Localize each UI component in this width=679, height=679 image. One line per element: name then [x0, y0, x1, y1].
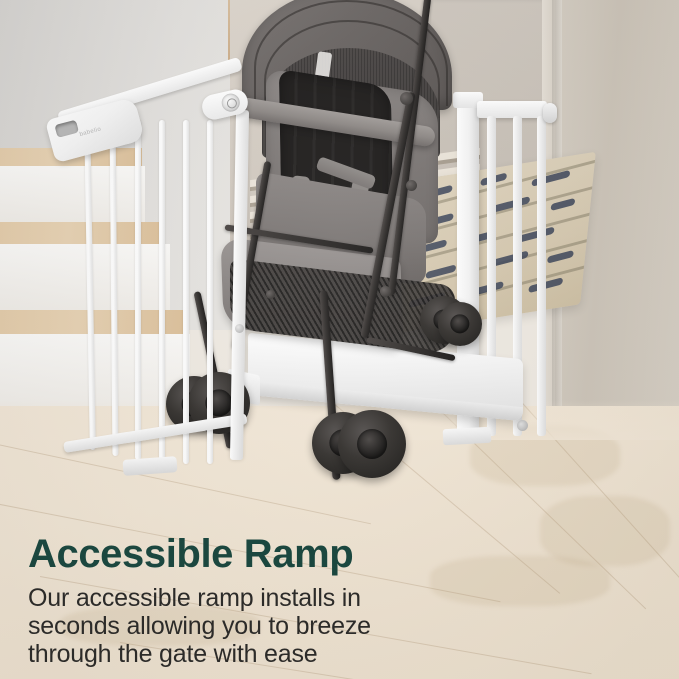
gate-extension-bar [537, 116, 546, 436]
body-copy: Our accessible ramp installs in seconds … [28, 584, 458, 668]
frame-joint [400, 92, 413, 105]
latch-dial-icon [220, 92, 242, 114]
gate-brand-label: babelio [79, 126, 102, 138]
gate-extension-screw [517, 420, 528, 431]
body-line: through the gate with ease [28, 640, 458, 668]
gate-bar [135, 120, 141, 460]
body-line: seconds allowing you to breeze [28, 612, 458, 640]
gate-bar [159, 120, 165, 462]
frame-joint [266, 290, 275, 299]
stroller-wheel [438, 302, 482, 346]
product-lifestyle-image: babelio Accessible Ramp Our accessible r… [0, 0, 679, 679]
frame-joint [380, 286, 391, 297]
gate-bar [110, 120, 119, 456]
frame-joint [406, 180, 417, 191]
marketing-copy: Accessible Ramp Our accessible ramp inst… [28, 530, 458, 668]
gate-bar [183, 120, 189, 464]
gate-bar [84, 120, 96, 450]
gate-handle-slot [54, 120, 79, 138]
body-line: Our accessible ramp installs in [28, 584, 458, 612]
gate-swing-panel[interactable]: babelio [47, 50, 247, 450]
gate-bar [207, 120, 213, 464]
gate-hinge[interactable] [543, 103, 557, 123]
gate-handle[interactable]: babelio [45, 97, 145, 163]
headline: Accessible Ramp [28, 530, 458, 578]
gate-latch-post [230, 110, 249, 460]
gate-post-screw [235, 324, 244, 333]
stroller-wheel [338, 410, 406, 478]
